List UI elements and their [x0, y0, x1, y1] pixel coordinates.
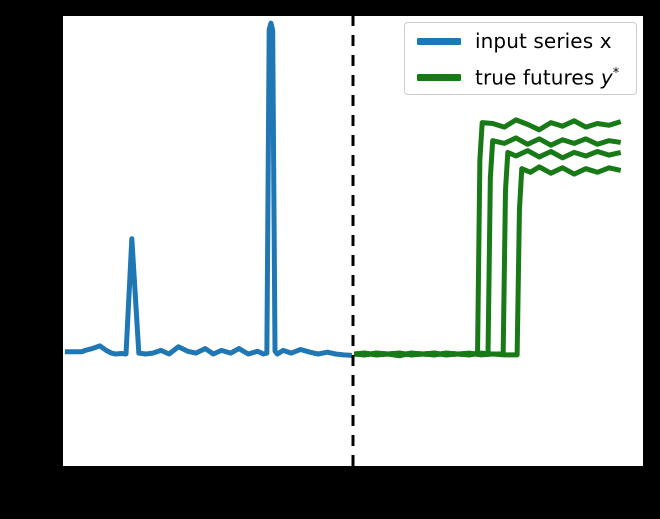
legend-swatch-blue-icon [417, 38, 461, 45]
legend-label-true-futures-text: true futures [475, 65, 601, 89]
legend-label-true-futures-symbol: y [601, 65, 613, 89]
legend-entry-input-series[interactable]: input series x [405, 23, 636, 59]
legend-label-true-futures-superscript: * [613, 66, 620, 81]
legend-entry-true-futures[interactable]: true futures y* [405, 59, 636, 95]
legend-label-input-series: input series x [475, 31, 612, 51]
figure-canvas: input series x true futures y* [0, 0, 660, 519]
series-line-0 [65, 23, 352, 355]
legend-swatch-green-icon [417, 74, 461, 81]
legend-box[interactable]: input series x true futures y* [404, 22, 637, 95]
legend-label-true-futures: true futures y* [475, 67, 619, 88]
